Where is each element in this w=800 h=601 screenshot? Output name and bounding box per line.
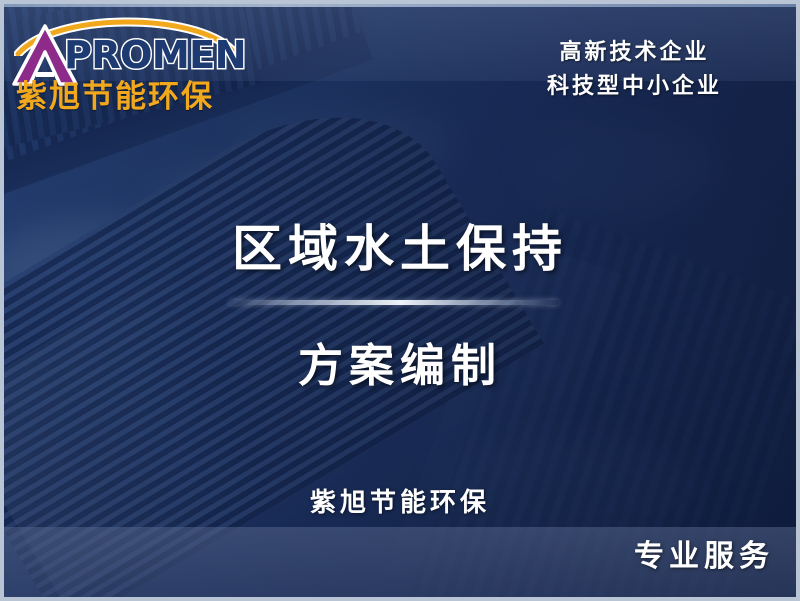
- credential-line-2: 科技型中小企业: [547, 70, 722, 104]
- footer-tagline: 专业服务: [634, 531, 774, 575]
- footer-brand: 紫旭节能环保: [4, 482, 796, 519]
- page-subtitle: 方案编制: [4, 329, 796, 394]
- presentation-slide: PROMEN PROMEN 紫旭节能环保 高新技术企业 科技型中小企业 区域水土…: [0, 0, 800, 601]
- company-logo: PROMEN PROMEN 紫旭节能环保: [8, 8, 236, 122]
- credential-line-1: 高新技术企业: [547, 36, 722, 70]
- header-credentials: 高新技术企业 科技型中小企业: [547, 36, 722, 104]
- page-title: 区域水土保持: [4, 209, 796, 281]
- header-top-rule: [4, 4, 796, 7]
- logo-wordmark: PROMEN: [64, 36, 246, 74]
- title-divider: [229, 300, 559, 305]
- logo-chinese-name: 紫旭节能环保: [16, 82, 214, 113]
